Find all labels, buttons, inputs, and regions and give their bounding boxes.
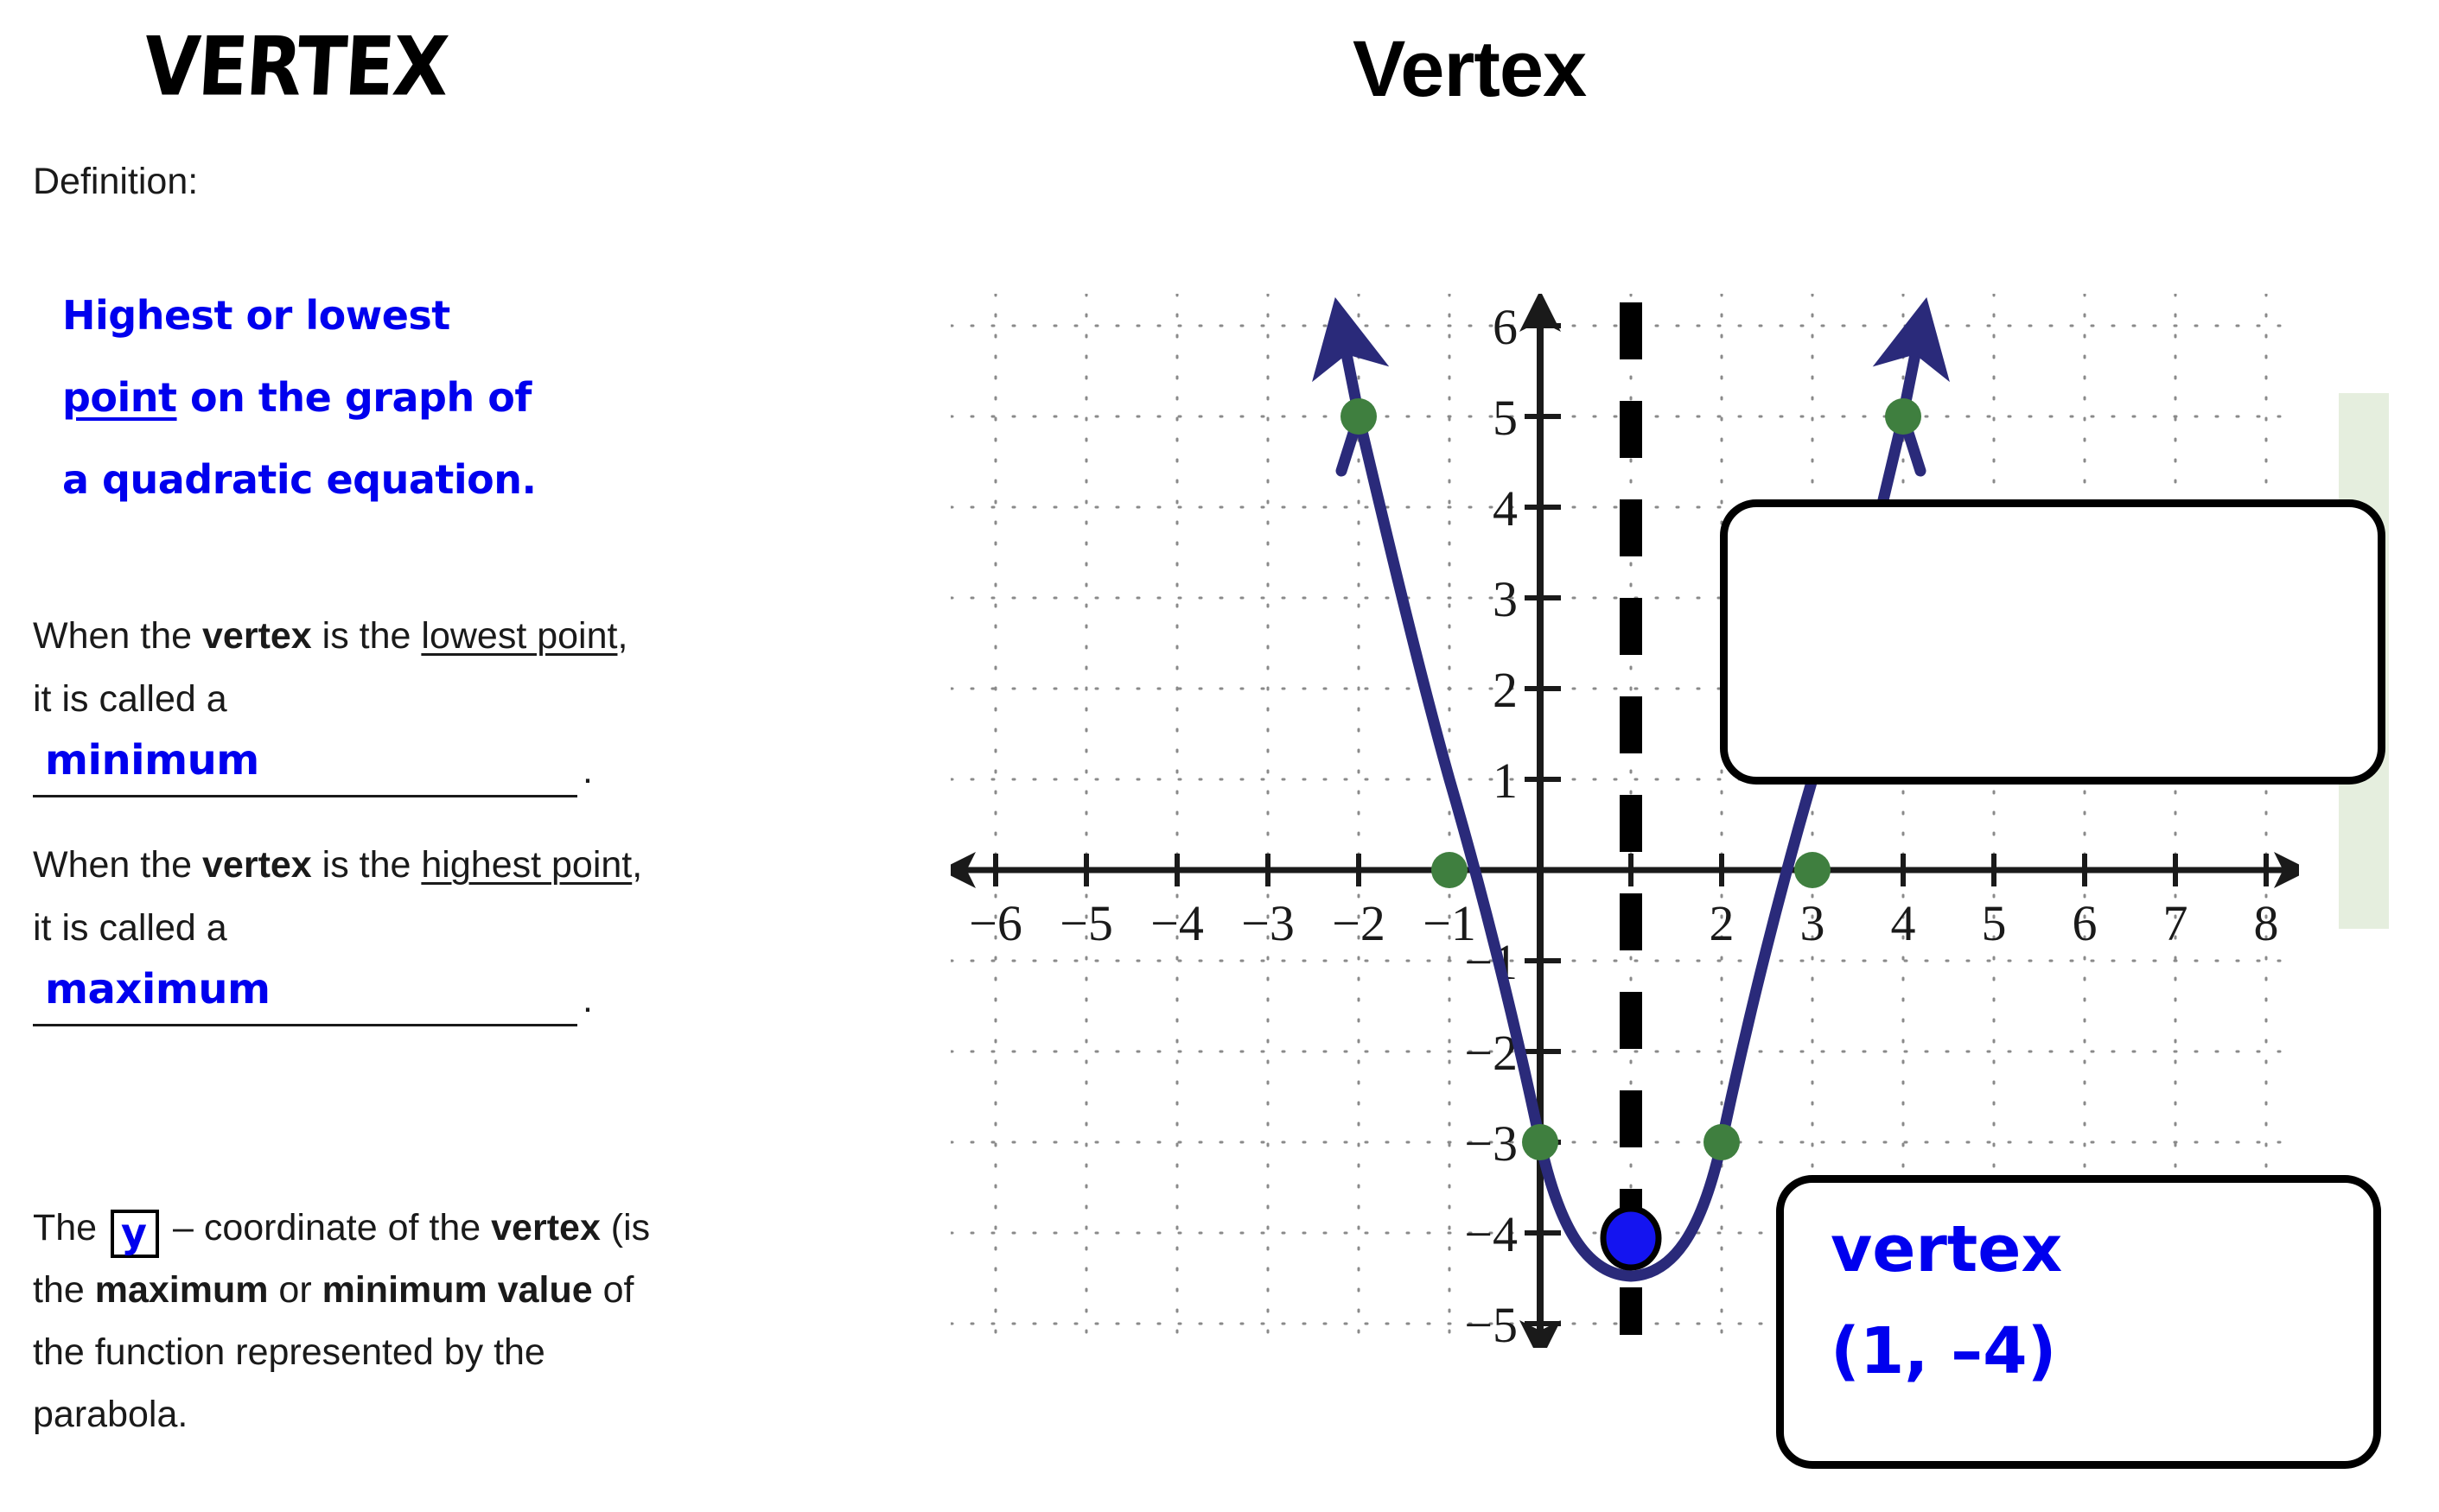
svg-text:−2: −2 [1332, 895, 1385, 951]
definition-line-1-text: Highest or lowest [62, 292, 450, 339]
definition-line-2: point on the graph of [62, 357, 667, 439]
page-title: Vertex [1353, 24, 1586, 115]
svg-text:−6: −6 [969, 895, 1022, 951]
svg-text:−4: −4 [1150, 895, 1204, 951]
maximum-period: . [583, 969, 593, 1032]
blank-answer-callout[interactable] [1720, 499, 2385, 785]
y-tick-labels: 6 5 4 3 2 1 −1 −2 −3 −4 −5 [1464, 299, 1518, 1348]
svg-text:5: 5 [1493, 390, 1518, 446]
definition-label: Definition: [33, 161, 198, 203]
svg-text:1: 1 [1493, 753, 1518, 809]
svg-text:6: 6 [1493, 299, 1518, 355]
svg-text:7: 7 [2163, 895, 2188, 951]
svg-text:−4: −4 [1464, 1206, 1518, 1262]
vertex-point [1603, 1209, 1659, 1267]
max-underline-highest-point: highest point [421, 844, 632, 886]
svg-text:4: 4 [1891, 895, 1916, 951]
definition-panel: VERTEX Definition: Highest or lowest poi… [0, 0, 691, 1512]
min-underline-lowest-point: lowest point [421, 615, 617, 657]
definition-line-3-text: a quadratic equation. [62, 456, 536, 503]
svg-text:−2: −2 [1464, 1025, 1518, 1081]
coord-text-1: The [33, 1207, 107, 1248]
max-bold-vertex: vertex [202, 844, 312, 886]
point-0-neg3 [1522, 1124, 1558, 1160]
y-coordinate-paragraph: The y – coordinate of the vertex (is the… [33, 1197, 655, 1445]
minimum-answer-blank[interactable]: minimum . [33, 733, 577, 797]
svg-text:3: 3 [1493, 571, 1518, 627]
point-neg1-0 [1431, 852, 1468, 888]
svg-text:8: 8 [2254, 895, 2279, 951]
min-bold-vertex: vertex [202, 615, 312, 657]
definition-text: Highest or lowest point on the graph of … [62, 275, 667, 521]
svg-text:2: 2 [1710, 895, 1735, 951]
point-3-0 [1794, 852, 1831, 888]
coord-text-2: – coordinate of the [162, 1207, 491, 1248]
minimum-answer-text: minimum [45, 729, 259, 792]
handwritten-vertex-title: VERTEX [141, 19, 450, 114]
point-neg2-5 [1340, 398, 1377, 435]
svg-text:−5: −5 [1464, 1297, 1518, 1348]
coord-bold-maximum: maximum [95, 1269, 269, 1311]
max-text-2: is the [312, 844, 422, 886]
point-2-neg3 [1703, 1124, 1740, 1160]
minimum-paragraph: When the vertex is the lowest point, it … [33, 605, 655, 797]
coord-bold-minimum-value: minimum value [322, 1269, 593, 1311]
definition-keyword-point: point [62, 374, 177, 421]
maximum-answer-blank[interactable]: maximum . [33, 962, 577, 1026]
svg-text:5: 5 [1982, 895, 2007, 951]
maximum-paragraph: When the vertex is the highest point, it… [33, 834, 655, 1026]
point-4-5 [1885, 398, 1921, 435]
coord-text-4: or [268, 1269, 322, 1311]
vertex-callout-label: vertex [1831, 1198, 2373, 1300]
max-text-1: When the [33, 844, 202, 886]
vertex-callout-coords: (1, –4) [1831, 1300, 2373, 1402]
definition-line-2-rest: on the graph of [177, 374, 532, 421]
boxed-y-answer[interactable]: y [111, 1210, 159, 1258]
maximum-answer-text: maximum [45, 958, 271, 1021]
boxed-y-text: y [121, 1210, 147, 1256]
definition-line-1: Highest or lowest [62, 275, 667, 357]
min-text-2: is the [312, 615, 422, 657]
vertex-callout: vertex (1, –4) [1776, 1175, 2381, 1469]
svg-text:4: 4 [1493, 480, 1518, 537]
definition-line-3: a quadratic equation. [62, 439, 667, 521]
min-text-1: When the [33, 615, 202, 657]
svg-text:−3: −3 [1464, 1115, 1518, 1172]
svg-text:2: 2 [1493, 662, 1518, 718]
coord-bold-vertex: vertex [491, 1207, 601, 1248]
svg-text:6: 6 [2073, 895, 2098, 951]
minimum-period: . [583, 740, 593, 803]
svg-text:−3: −3 [1241, 895, 1295, 951]
svg-text:3: 3 [1800, 895, 1825, 951]
svg-text:−5: −5 [1060, 895, 1113, 951]
